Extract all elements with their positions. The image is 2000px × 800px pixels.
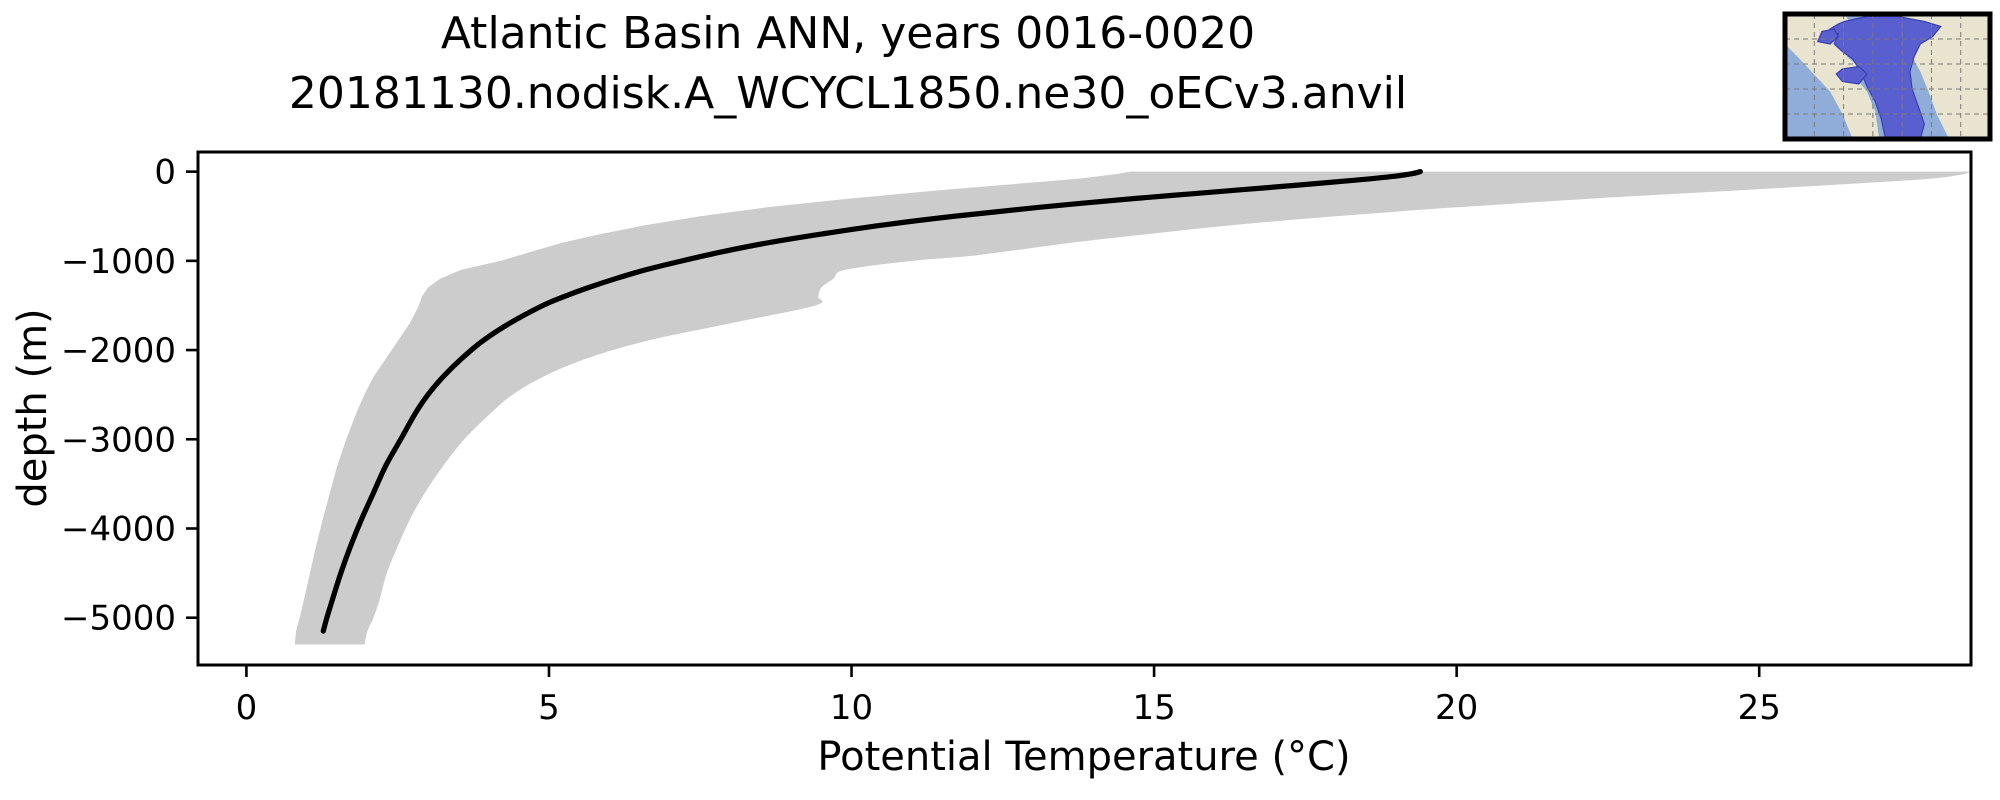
y-tick-label: −3000 — [61, 420, 176, 460]
chart-title-line-1: Atlantic Basin ANN, years 0016-0020 — [441, 8, 1255, 59]
x-tick-label: 15 — [1132, 688, 1175, 728]
x-tick-label: 20 — [1435, 688, 1478, 728]
y-tick-label: −4000 — [61, 509, 176, 549]
x-axis-ticks: 0510152025 — [236, 665, 1781, 728]
y-tick-label: −1000 — [61, 242, 176, 282]
figure-canvas: Atlantic Basin ANN, years 0016-0020 2018… — [0, 0, 2000, 800]
x-tick-label: 25 — [1738, 688, 1781, 728]
chart-title-line-2: 20181130.nodisk.A_WCYCL1850.ne30_oECv3.a… — [289, 68, 1407, 119]
x-tick-label: 5 — [538, 688, 560, 728]
x-axis-label: Potential Temperature (°C) — [817, 734, 1350, 780]
std-dev-band — [295, 172, 1971, 645]
region-locator-map[interactable] — [1785, 14, 1990, 139]
y-tick-label: 0 — [154, 153, 176, 193]
y-axis-label: depth (m) — [10, 308, 56, 507]
y-axis-ticks: 0−1000−2000−3000−4000−5000 — [61, 153, 198, 639]
plot-area — [295, 172, 1971, 645]
x-tick-label: 10 — [830, 688, 873, 728]
x-tick-label: 0 — [236, 688, 258, 728]
y-tick-label: −5000 — [61, 599, 176, 639]
y-tick-label: −2000 — [61, 331, 176, 371]
ocean-temperature-depth-profile-chart: Atlantic Basin ANN, years 0016-0020 2018… — [0, 0, 2000, 800]
